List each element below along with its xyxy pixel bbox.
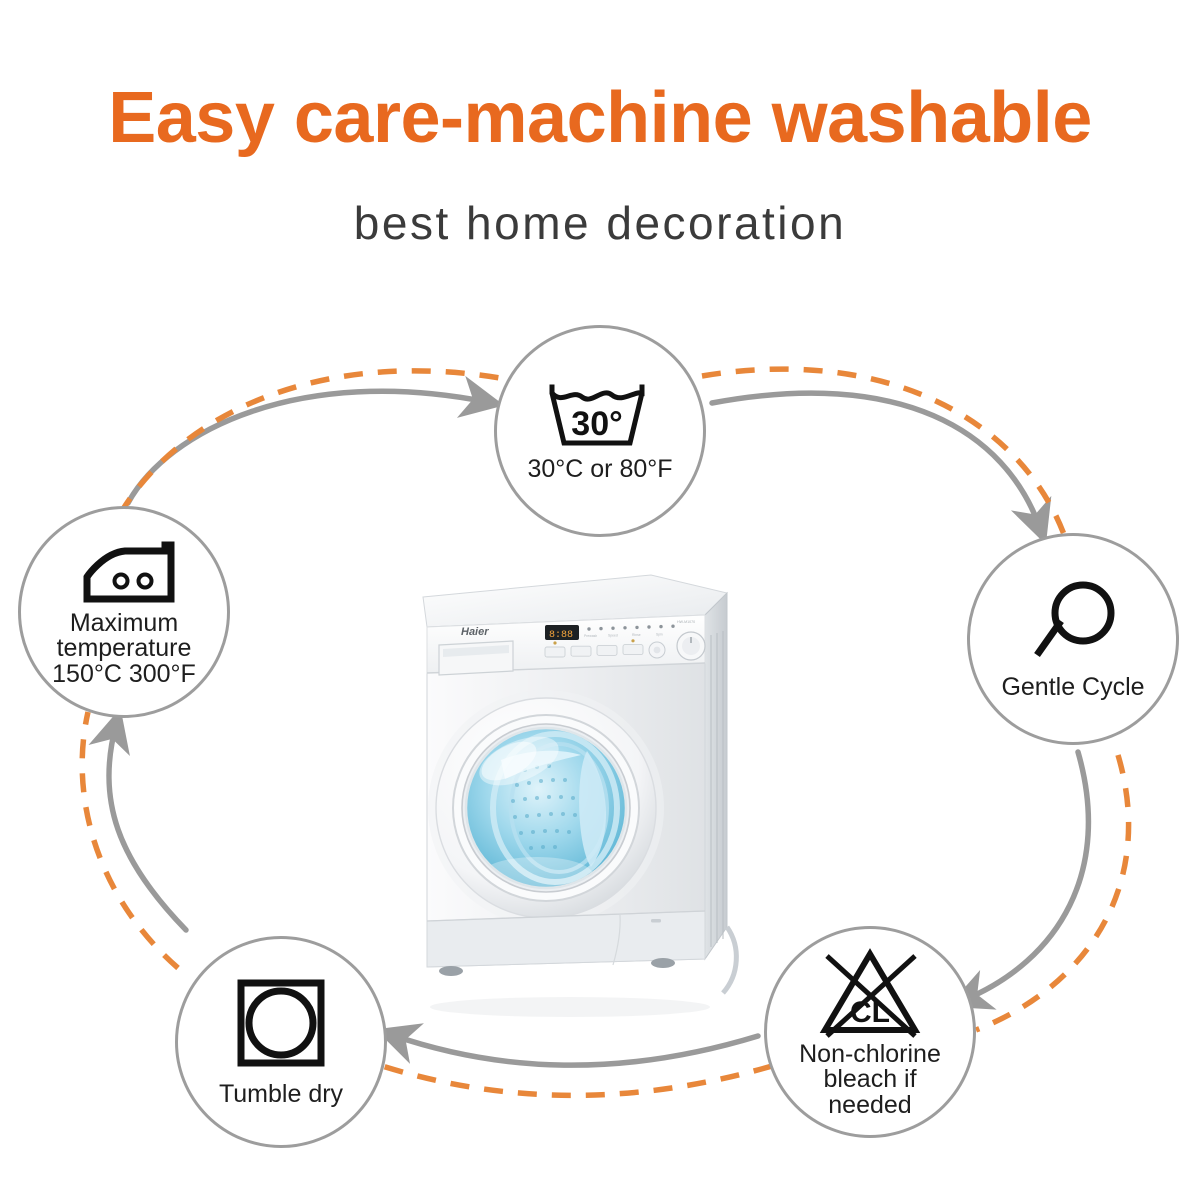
arrow-wash-to-gentle xyxy=(712,393,1040,528)
tumble-dry-icon xyxy=(234,976,328,1070)
infographic-root: Easy care-machine washable best home dec… xyxy=(0,0,1200,1200)
cycle-node-non-chlorine-bleach[interactable]: CL Non-chlorine bleach if needed xyxy=(764,926,976,1138)
washing-machine-image: Haier 8:88 PrewashSpeed RinseSpin xyxy=(405,555,745,1020)
svg-text:Speed: Speed xyxy=(608,634,618,638)
cycle-node-wash-temperature[interactable]: 30° 30°C or 80°F xyxy=(494,325,706,537)
wash-tub-icon: 30° xyxy=(544,379,656,451)
svg-text:Spin: Spin xyxy=(656,633,663,637)
iron-two-dots-icon xyxy=(69,537,179,609)
cycle-node-label: 30°C or 80°F xyxy=(527,457,672,483)
brand-logo-text: Haier xyxy=(461,626,489,638)
dash-tumble-to-iron xyxy=(82,712,178,968)
cycle-node-gentle-cycle[interactable]: Gentle Cycle xyxy=(967,533,1179,745)
cycle-node-label: Non-chlorine bleach if needed xyxy=(799,1042,941,1119)
arrow-tumble-to-iron xyxy=(109,725,186,930)
svg-text:Prewash: Prewash xyxy=(584,634,597,638)
svg-text:8:88: 8:88 xyxy=(549,630,573,641)
arrow-gentle-to-bleach xyxy=(964,752,1088,1000)
dash-gentle-to-bleach xyxy=(976,755,1129,1030)
no-chlorine-bleach-icon: CL xyxy=(815,946,925,1040)
cycle-node-label: Maximum temperature 150°C 300°F xyxy=(52,611,196,688)
svg-text:HW-M1070: HW-M1070 xyxy=(677,620,695,624)
arrow-bleach-to-tumble xyxy=(392,1035,758,1065)
wash-tub-temperature-text: 30° xyxy=(571,405,622,443)
cycle-node-tumble-dry[interactable]: Tumble dry xyxy=(175,936,387,1148)
dash-bleach-to-tumble xyxy=(350,1055,772,1095)
svg-text:Rinse: Rinse xyxy=(632,633,641,637)
gentle-cycle-icon xyxy=(1021,577,1125,665)
cycle-node-label: Gentle Cycle xyxy=(1001,675,1144,701)
arrow-iron-to-wash xyxy=(128,391,487,503)
cycle-node-iron-temperature[interactable]: Maximum temperature 150°C 300°F xyxy=(18,506,230,718)
cycle-node-label: Tumble dry xyxy=(219,1082,343,1108)
